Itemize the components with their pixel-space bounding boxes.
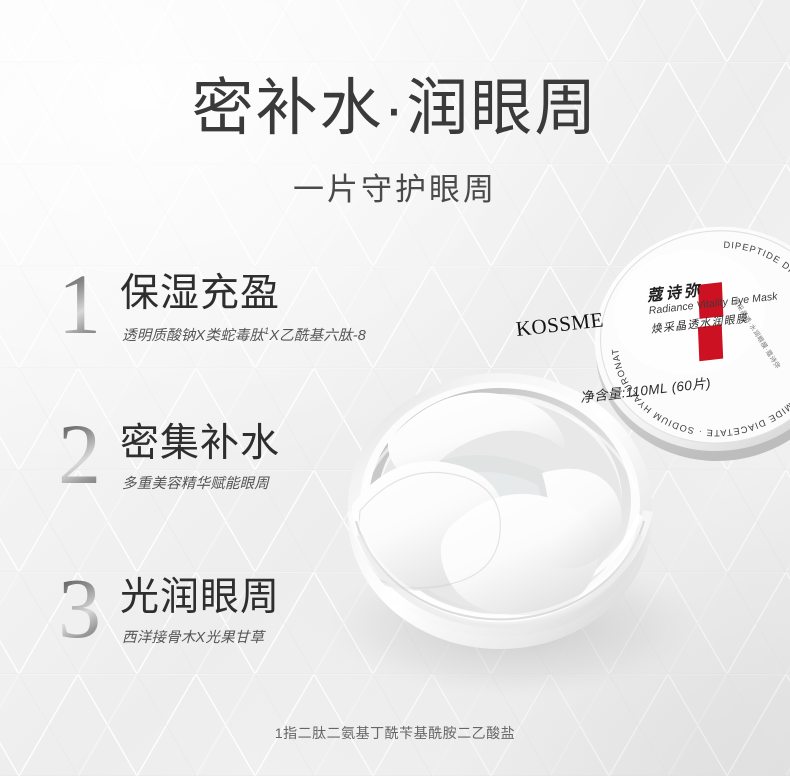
advertisement-banner: 密补水·润眼周 一片守护眼周 [0, 0, 790, 776]
feature-subtitle-3-pre: 西洋接骨木X光果甘草 [122, 630, 264, 646]
feature-number-1: 1 [58, 266, 101, 343]
product-image: DIPEPTIDE DIAMINOBUTYROYL BENZYLAMIDE DI… [330, 205, 790, 705]
feature-title-2: 密集补水 [120, 424, 280, 463]
footnote-text: 1指二肽二氨基丁酰苄基酰胺二乙酸盐 [0, 723, 790, 743]
feature-subtitle-1-pre: 透明质酸钠X类蛇毒肽 [122, 328, 264, 344]
feature-subtitle-1: 透明质酸钠X类蛇毒肽1X乙酰基六肽-8 [122, 326, 366, 345]
page-subtitle: 一片守护眼周 [0, 174, 790, 205]
feature-title-1: 保湿充盈 [120, 274, 280, 313]
feature-number-3: 3 [58, 570, 101, 647]
feature-subtitle-1-post: X乙酰基六肽-8 [269, 328, 366, 344]
feature-number-2: 2 [58, 416, 101, 493]
feature-subtitle-2-pre: 多重美容精华赋能眼周 [122, 476, 269, 492]
feature-subtitle-3: 西洋接骨木X光果甘草 [122, 630, 264, 647]
feature-title-3: 光润眼周 [120, 578, 280, 617]
page-title: 密补水·润眼周 [0, 78, 790, 140]
feature-subtitle-2: 多重美容精华赋能眼周 [122, 476, 269, 493]
